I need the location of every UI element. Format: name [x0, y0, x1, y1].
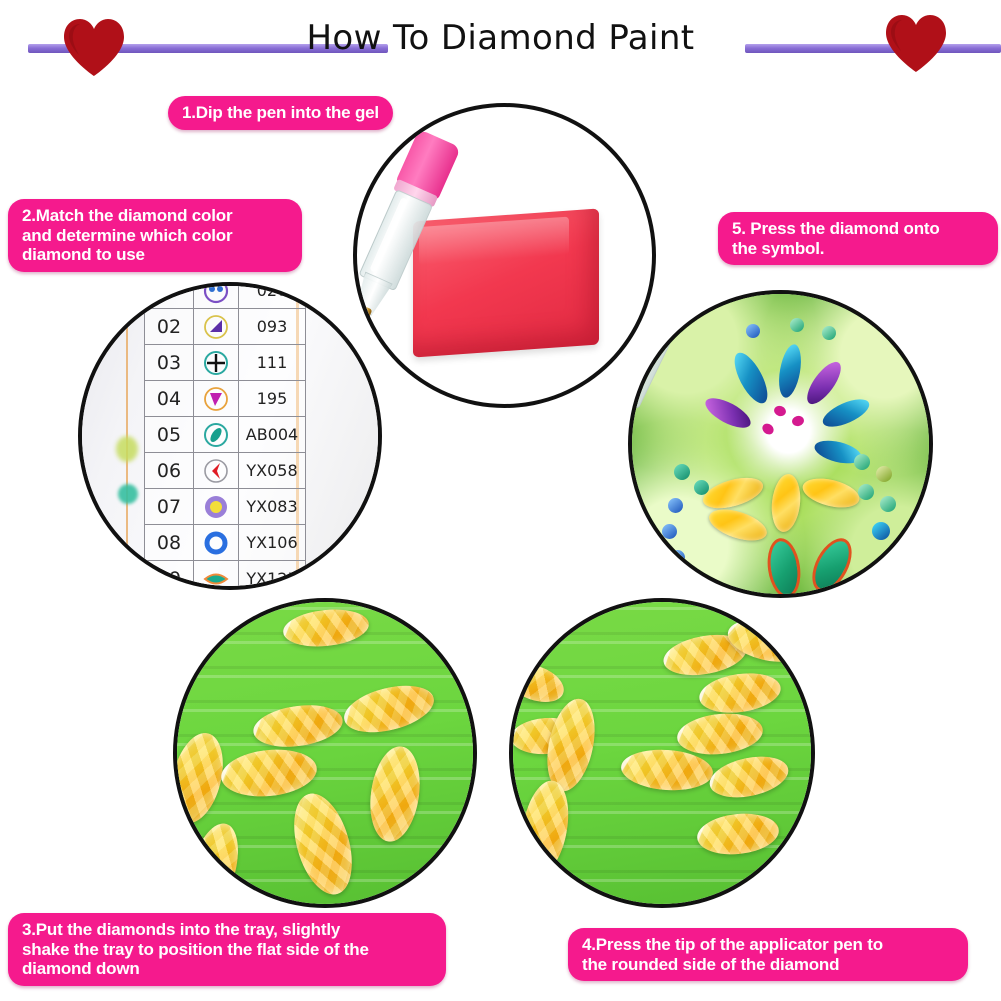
step-1-photo [353, 103, 656, 408]
page-title: How To Diamond Paint [0, 18, 1001, 58]
canvas-blob-teal [118, 484, 138, 504]
step-3-photo [173, 598, 477, 908]
cell-number: 09 [145, 561, 194, 591]
cell-code: YX058 [239, 453, 306, 489]
step-3-line-3: diamond down [22, 959, 432, 979]
cell-code: 026 [239, 282, 306, 309]
step-3-label: 3.Put the diamonds into the tray, slight… [8, 913, 446, 986]
dot-gem [854, 454, 870, 470]
table-row: 04 195 [145, 381, 306, 417]
table-row: 026 [145, 282, 306, 309]
cell-code: 111 [239, 345, 306, 381]
cell-code: 195 [239, 381, 306, 417]
dot-gem [872, 522, 890, 540]
purple-circle-dots-icon [203, 282, 229, 304]
dot-gem [674, 464, 690, 480]
dot-magenta [773, 404, 788, 418]
cell-number: 03 [145, 345, 194, 381]
step-1-line-1: 1.Dip the pen into the gel [182, 103, 379, 123]
step-5-line-2: the symbol. [732, 239, 984, 259]
table-row: 02 093 [145, 309, 306, 345]
step-5-photo [628, 290, 933, 598]
cell-symbol [194, 282, 239, 309]
cell-code: YX083 [239, 489, 306, 525]
step-3-line-2: shake the tray to position the flat side… [22, 940, 432, 960]
header: How To Diamond Paint [0, 0, 1001, 80]
cell-code: AB004 [239, 417, 306, 453]
yellow-dot-ring-icon [203, 494, 229, 520]
gem-yellow [700, 472, 767, 514]
cell-number [145, 282, 194, 309]
cell-symbol [194, 489, 239, 525]
step-4-line-1: 4.Press the tip of the applicator pen to [582, 935, 954, 955]
gem-teal [775, 343, 804, 400]
dot-magenta [791, 415, 805, 428]
canvas-blob-green [116, 436, 138, 462]
table-row: 09 YX125 [145, 561, 306, 591]
cell-number: 08 [145, 525, 194, 561]
cell-symbol [194, 561, 239, 591]
red-arrow-icon [203, 458, 229, 484]
dot-gem [746, 324, 760, 338]
cell-code: 093 [239, 309, 306, 345]
cell-number: 04 [145, 381, 194, 417]
cell-symbol [194, 381, 239, 417]
cell-symbol [194, 525, 239, 561]
magenta-triangle-icon [203, 386, 229, 412]
cell-number: 05 [145, 417, 194, 453]
infographic-canvas: How To Diamond Paint 1.Dip the pen into … [0, 0, 1001, 1001]
table-row: 07 YX083 [145, 489, 306, 525]
teal-marquise-icon [203, 566, 229, 591]
cell-number: 06 [145, 453, 194, 489]
gem-green [804, 532, 859, 598]
color-symbol-table: 026 02 093 03 [144, 282, 306, 590]
step-4-photo [509, 598, 815, 908]
dot-gem [876, 466, 892, 482]
cell-symbol [194, 345, 239, 381]
tray-scene [177, 602, 473, 904]
cell-number: 02 [145, 309, 194, 345]
table-row: 05 AB004 [145, 417, 306, 453]
gem-green [764, 536, 804, 598]
table-row: 08 YX106 [145, 525, 306, 561]
step-5-line-1: 5. Press the diamond onto [732, 219, 984, 239]
gem-yellow [800, 473, 863, 512]
step-2-line-1: 2.Match the diamond color [22, 206, 288, 226]
mandala-scene [632, 294, 929, 594]
step-2-label: 2.Match the diamond color and determine … [8, 199, 302, 272]
color-chart-scene: 026 02 093 03 [82, 286, 378, 586]
step-2-line-3: diamond to use [22, 245, 288, 265]
gel-dip-scene [357, 107, 652, 404]
dot-magenta [760, 421, 776, 436]
dot-gem [670, 550, 685, 565]
dot-gem [694, 480, 709, 495]
cell-code: YX125 [239, 561, 306, 591]
cell-symbol [194, 417, 239, 453]
step-2-line-2: and determine which color [22, 226, 288, 246]
pickup-scene [513, 602, 811, 904]
step-4-line-2: the rounded side of the diamond [582, 955, 954, 975]
step-5-label: 5. Press the diamond onto the symbol. [718, 212, 998, 265]
dot-gem [822, 326, 836, 340]
blue-ring-icon [203, 530, 229, 556]
cell-code: YX106 [239, 525, 306, 561]
teal-plus-icon [203, 350, 229, 376]
gem-purple [701, 392, 755, 433]
gel-pad [413, 208, 599, 357]
gem-yellow [705, 503, 770, 546]
purple-triangle-icon [203, 314, 229, 340]
gem-teal [819, 394, 873, 433]
table-row: 06 YX058 [145, 453, 306, 489]
dot-gem [858, 484, 874, 500]
gem-teal [728, 348, 774, 408]
step-2-photo: 026 02 093 03 [78, 282, 382, 590]
teal-ellipse-icon [203, 422, 229, 448]
table-row: 03 111 [145, 345, 306, 381]
cell-symbol [194, 453, 239, 489]
cell-symbol [194, 309, 239, 345]
dot-gem [790, 318, 804, 332]
gem-purple [801, 357, 847, 409]
cell-number: 07 [145, 489, 194, 525]
dot-gem [662, 524, 677, 539]
dot-gem [668, 498, 683, 513]
step-4-label: 4.Press the tip of the applicator pen to… [568, 928, 968, 981]
step-3-line-1: 3.Put the diamonds into the tray, slight… [22, 920, 432, 940]
dot-gem [880, 496, 896, 512]
gem-yellow-target [769, 473, 803, 534]
